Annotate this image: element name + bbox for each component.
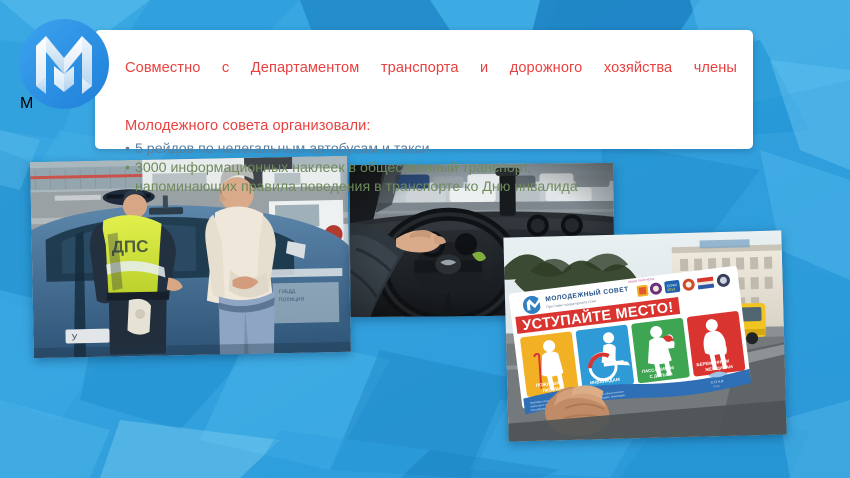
bullet-marker-icon: •: [125, 140, 130, 159]
svg-text:ГИБДД: ГИБДД: [279, 289, 296, 295]
bullet-item-raids: • 5 рейдов по нелегальным автобусам и та…: [125, 140, 737, 159]
molodezhny-sovet-m-logo: M: [16, 16, 112, 112]
bullet-marker-icon: •: [125, 159, 130, 178]
page-title-line-1: Совместно с Департаментом транспорта и д…: [125, 59, 737, 98]
slide-canvas: Совместно с Департаментом транспорта и д…: [0, 0, 850, 478]
bullet-text-raids: 5 рейдов по нелегальным автобусам и такс…: [135, 140, 430, 159]
header-text-card: Совместно с Департаментом транспорта и д…: [95, 30, 753, 149]
svg-text:ПОЛИЦИЯ: ПОЛИЦИЯ: [279, 297, 305, 304]
sticker-panel-pregnant: БЕРЕМЕННЫМ ЖЕНЩИНАМ: [687, 311, 746, 377]
vest-label-dps: ДПС: [112, 237, 149, 257]
logo-letter: M: [20, 95, 33, 112]
bullet-item-stickers: • 3000 информационных наклеек в обществе…: [125, 159, 737, 197]
bullet-text-stickers: 3000 информационных наклеек в общественн…: [135, 159, 578, 197]
svg-text:У: У: [71, 332, 77, 342]
sticker-panel-disabled: ИНВАЛИДАМ: [575, 324, 634, 390]
svg-text:Сочи: Сочи: [713, 384, 720, 389]
sticker-in-hand-photo: МОЛОДЕЖНЫЙ СОВЕТ При Главе города-курорт…: [503, 230, 786, 441]
sticker-panel-with-children: ПАССАЖИРАМ С ДЕТЬМИ: [631, 318, 690, 384]
page-title-line-2: Молодежного совета организовали:: [125, 118, 371, 134]
page-title: Совместно с Департаментом транспорта и д…: [125, 39, 737, 137]
